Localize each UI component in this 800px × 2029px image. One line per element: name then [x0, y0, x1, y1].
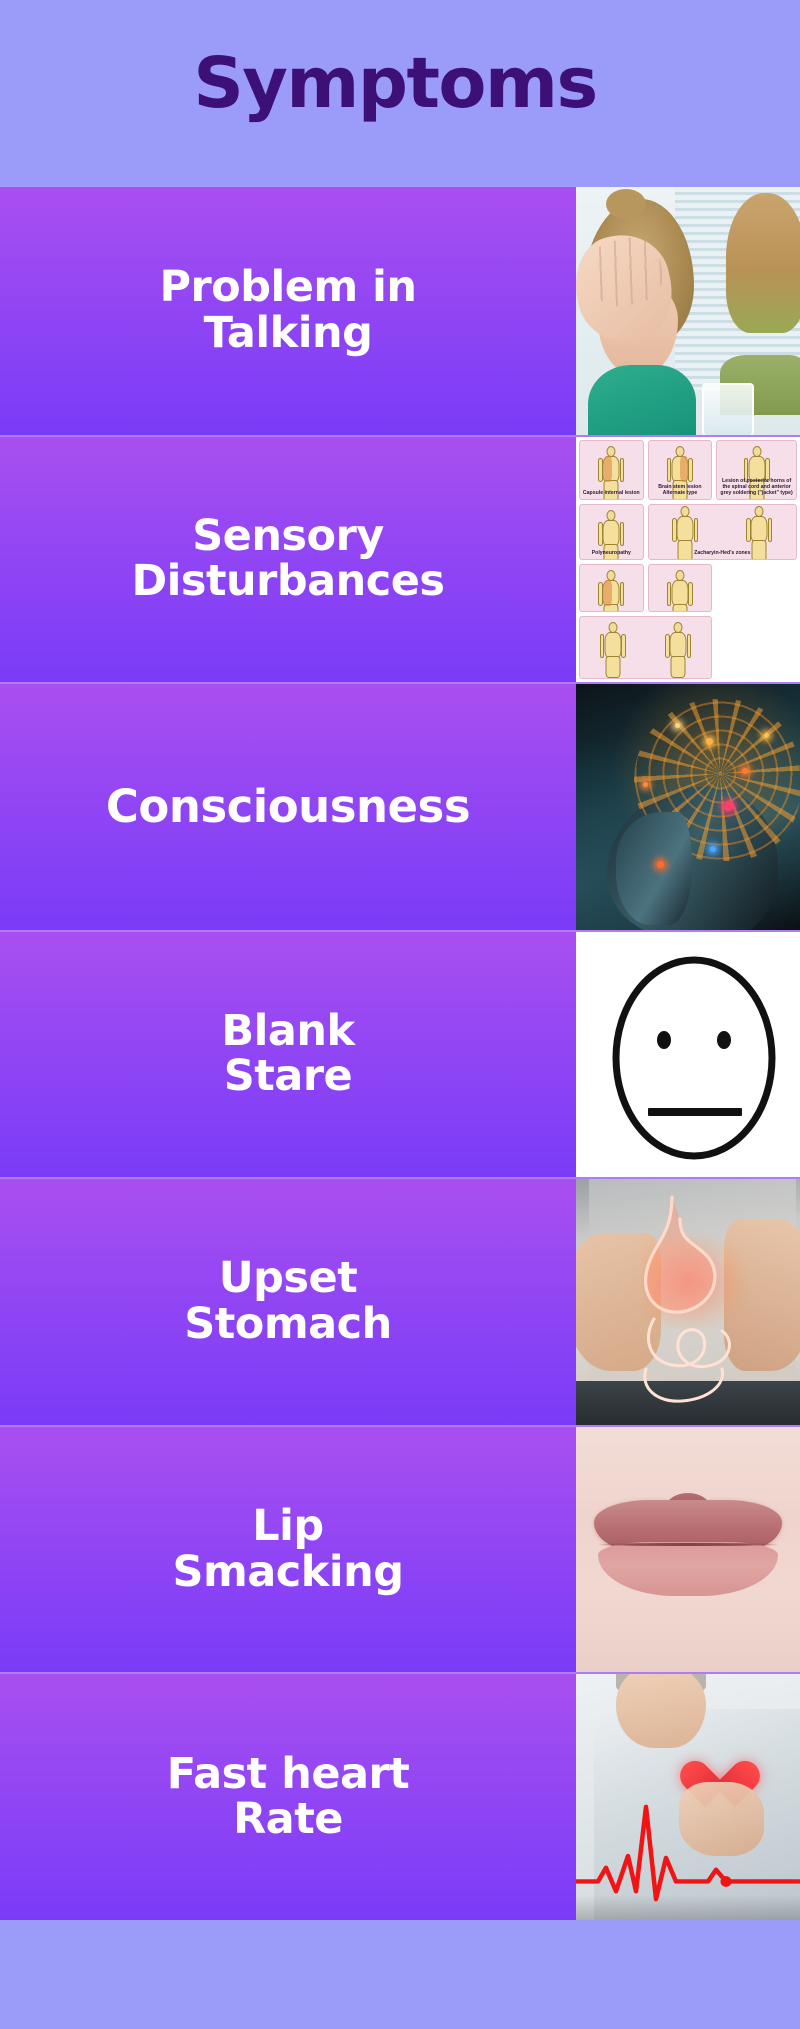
symptom-label: Upset Stomach	[184, 1256, 392, 1347]
symptom-label-cell: Lip Smacking	[0, 1427, 576, 1673]
symptom-media-cell	[576, 1427, 800, 1673]
symptom-media-cell	[576, 932, 800, 1178]
illustration-neural-network-head-icon	[576, 684, 800, 930]
symptom-label-cell: Problem in Talking	[0, 187, 576, 435]
photo-man-chest-pain-ecg-icon	[576, 1674, 800, 1920]
symptom-media-cell	[576, 1179, 800, 1425]
symptom-row-fast-heart-rate[interactable]: Fast heart Rate	[0, 1672, 800, 1920]
symptom-media-cell	[576, 684, 800, 930]
symptom-media-cell: Capsule internal lesion Brain stem lesio…	[576, 437, 800, 683]
symptom-label-cell: Consciousness	[0, 684, 576, 930]
photo-lips-closeup-icon	[576, 1427, 800, 1673]
chart-caption: Brain stem lesion Alternate type	[649, 484, 712, 498]
symptom-list: Problem in Talking S	[0, 187, 800, 1920]
icon-expressionless-face-icon	[576, 932, 800, 1178]
chart-caption: Lesion of posterior horns of the spinal …	[717, 478, 796, 498]
header-band: Symptoms	[0, 0, 800, 187]
symptoms-infographic: Symptoms Problem in Talking	[0, 0, 800, 2029]
symptom-media-cell	[576, 1674, 800, 1920]
symptom-row-sensory-disturbances[interactable]: Sensory Disturbances Capsule internal le…	[0, 435, 800, 683]
symptom-label: Sensory Disturbances	[131, 514, 444, 605]
photo-woman-headache-at-window-icon	[576, 187, 800, 435]
symptom-label-cell: Upset Stomach	[0, 1179, 576, 1425]
page-title: Symptoms	[193, 48, 596, 118]
symptom-label: Consciousness	[106, 783, 470, 831]
photo-abdominal-pain-digestive-overlay-icon	[576, 1179, 800, 1425]
chart-caption: Zacharyin-Hed's zones	[649, 550, 796, 558]
symptom-label: Blank Stare	[221, 1009, 354, 1100]
symptom-label-cell: Sensory Disturbances	[0, 437, 576, 683]
footer-band	[0, 1920, 800, 2029]
symptom-label: Lip Smacking	[172, 1504, 403, 1595]
symptom-row-upset-stomach[interactable]: Upset Stomach	[0, 1177, 800, 1425]
symptom-row-lip-smacking[interactable]: Lip Smacking	[0, 1425, 800, 1673]
symptom-row-problem-in-talking[interactable]: Problem in Talking	[0, 187, 800, 435]
symptom-label-cell: Blank Stare	[0, 932, 576, 1178]
chart-caption: Polyneuropathy	[580, 550, 643, 558]
symptom-row-consciousness[interactable]: Consciousness	[0, 682, 800, 930]
symptom-row-blank-stare[interactable]: Blank Stare	[0, 930, 800, 1178]
medical-chart-sensory-disturbance-patterns-icon: Capsule internal lesion Brain stem lesio…	[576, 437, 800, 683]
symptom-label: Fast heart Rate	[167, 1752, 410, 1843]
chart-caption: Capsule internal lesion	[580, 490, 643, 498]
symptom-media-cell	[576, 187, 800, 435]
symptom-label-cell: Fast heart Rate	[0, 1674, 576, 1920]
symptom-label: Problem in Talking	[159, 265, 416, 356]
